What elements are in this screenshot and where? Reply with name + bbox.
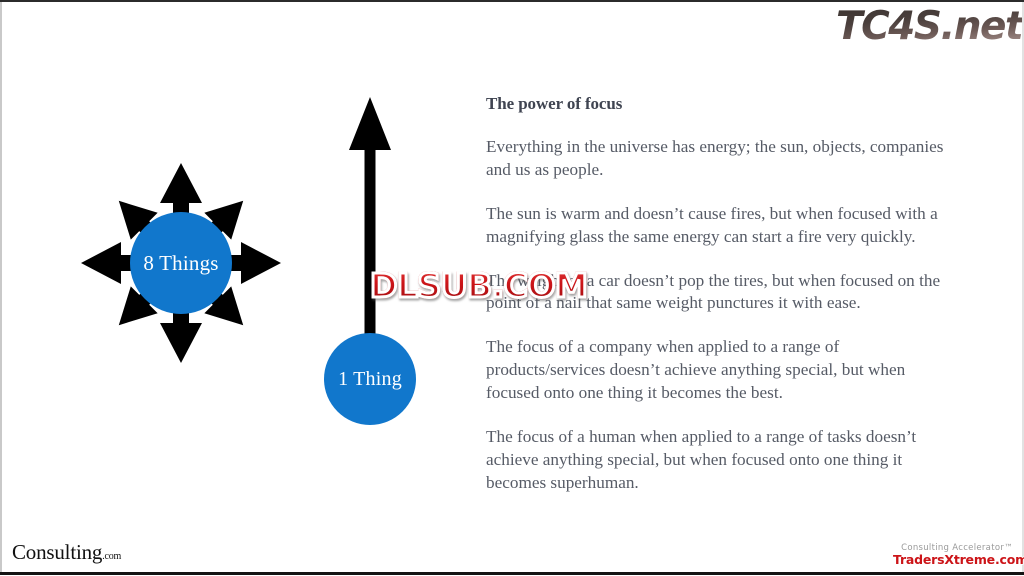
body-paragraph: The sun is warm and doesn’t cause fires,… — [486, 203, 956, 249]
brand-logo-name: Consulting — [12, 540, 102, 564]
watermark-center: DLSUB.COM — [370, 266, 587, 305]
watermark-traders-label: TradersXtreme.com — [893, 553, 1021, 567]
up-arrow-icon — [344, 95, 396, 350]
brand-logo: Consulting.com — [12, 540, 121, 565]
slide-left-border — [0, 2, 2, 572]
body-paragraph: Everything in the universe has energy; t… — [486, 136, 956, 182]
unfocused-node-label: 8 Things — [143, 251, 218, 276]
brand-logo-tld: .com — [102, 551, 121, 562]
body-paragraph: The focus of a company when applied to a… — [486, 336, 956, 405]
slide-bottom-border — [0, 572, 1024, 575]
slide-canvas: 8 Things 1 Thing The power of focus Ever… — [0, 0, 1024, 576]
page-title: The power of focus — [486, 94, 956, 114]
slide-top-border — [0, 0, 1024, 2]
watermark-bottom-right: Consulting Accelerator™ TradersXtreme.co… — [893, 544, 1021, 568]
body-paragraph: The focus of a human when applied to a r… — [486, 426, 956, 495]
focused-diagram — [344, 95, 396, 350]
unfocused-node-circle: 8 Things — [130, 212, 232, 314]
focused-node-circle: 1 Thing — [324, 333, 416, 425]
focused-node-label: 1 Thing — [338, 368, 402, 391]
watermark-center-text: DLSUB.COM — [370, 266, 587, 305]
watermark-top-right: TC4S.net — [836, 4, 1022, 49]
